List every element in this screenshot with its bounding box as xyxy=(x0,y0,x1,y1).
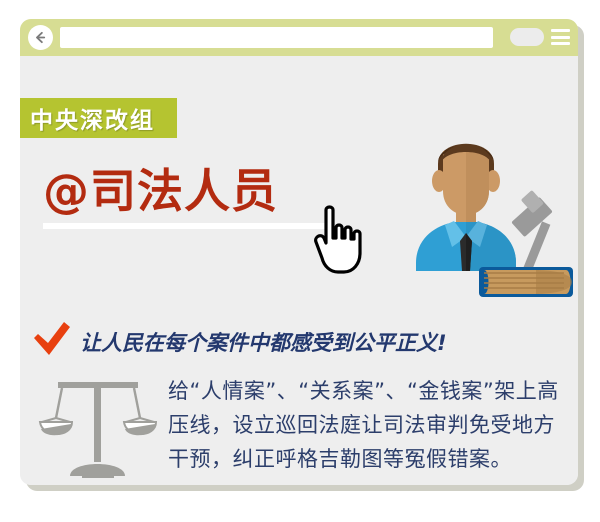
back-button[interactable] xyxy=(28,25,53,50)
menu-line xyxy=(551,36,570,39)
page-title: @司法人员 xyxy=(43,168,278,214)
hamburger-menu-icon[interactable] xyxy=(551,29,570,45)
slogan-row: 让人民在每个案件中都感受到公平正义! xyxy=(32,321,447,362)
browser-toolbar xyxy=(20,19,578,56)
page-content-area: 中央深改组 @司法人员 让人民在每个案件中都感受到公平正义! xyxy=(20,56,578,485)
check-mark-icon xyxy=(32,321,72,362)
address-bar-input[interactable] xyxy=(60,27,493,48)
slogan-text: 让人民在每个案件中都感受到公平正义! xyxy=(80,327,447,357)
ribbon-label: 中央深改组 xyxy=(30,101,155,135)
ribbon-banner: 中央深改组 xyxy=(20,98,177,138)
menu-line xyxy=(551,29,570,32)
scales-of-justice-icon xyxy=(32,372,164,484)
title-underline xyxy=(43,223,333,229)
tab-pill-button[interactable] xyxy=(510,28,544,46)
menu-line xyxy=(551,42,570,45)
body-paragraph: 给“人情案”、“关系案”、“金钱案”架上高压线，设立巡回法庭让司法审判免受地方干… xyxy=(168,374,560,476)
browser-window-card: 中央深改组 @司法人员 让人民在每个案件中都感受到公平正义! xyxy=(20,19,578,485)
judge-avatar-illustration xyxy=(386,111,576,301)
pointing-hand-cursor-icon xyxy=(308,204,370,281)
back-arrow-icon xyxy=(33,30,48,45)
